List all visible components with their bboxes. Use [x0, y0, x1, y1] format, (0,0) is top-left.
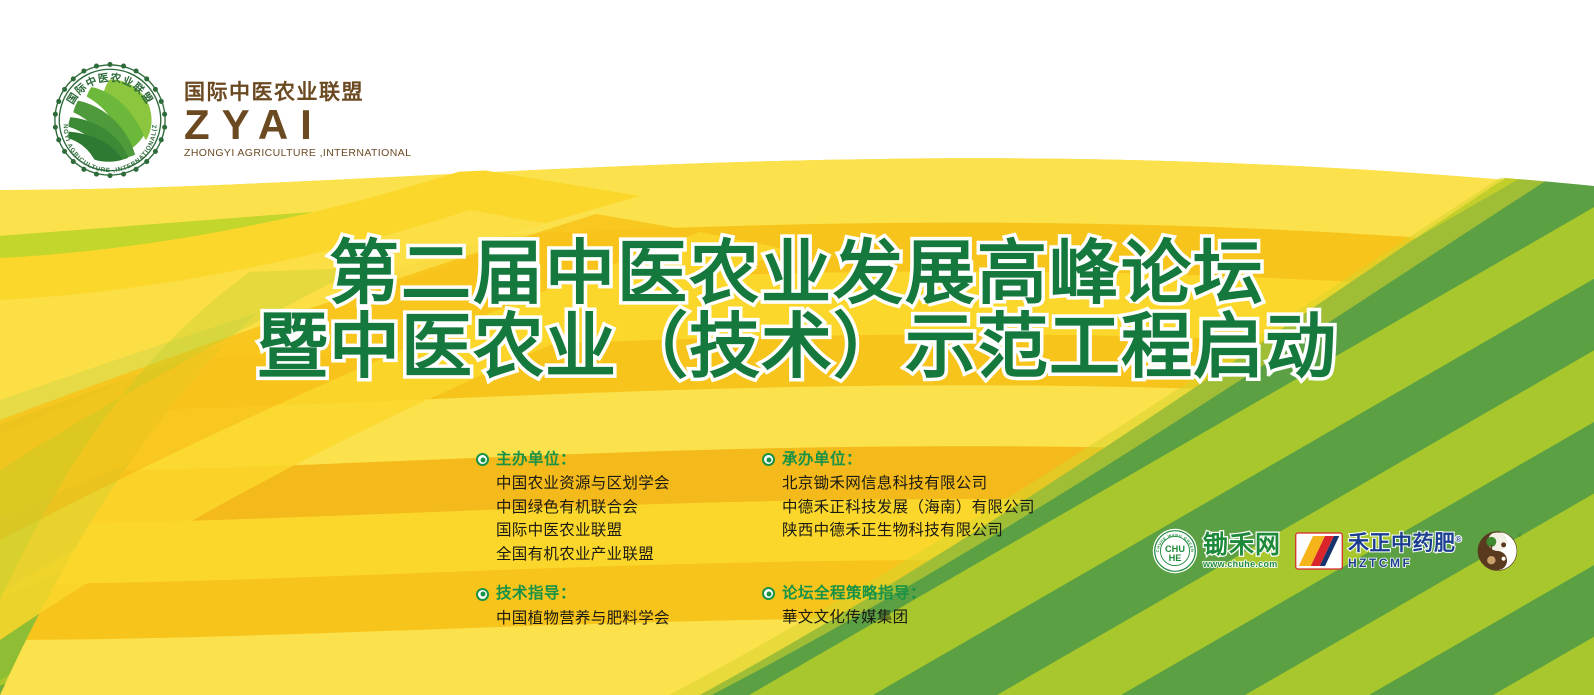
zyai-org-name-cn: 国际中医农业联盟	[184, 82, 411, 103]
organizer-item-list: 北京锄禾网信息科技有限公司 中德禾正科技发展（海南）有限公司 陕西中德禾正生物科…	[782, 472, 1062, 543]
registered-icon: ®	[1456, 535, 1462, 544]
chuhe-wordmark: 锄禾网	[1203, 533, 1281, 558]
organizer-column-left: 主办单位： 中国农业资源与区划学会 中国绿色有机联合会 国际中医农业联盟 全国有…	[476, 448, 744, 630]
list-item: 中德禾正科技发展（海南）有限公司	[782, 496, 1062, 520]
zyai-abbr: ZYAI	[184, 106, 411, 145]
organizer-group-heading: 主办单位：	[476, 448, 744, 471]
organizer-label: 论坛全程策略指导：	[782, 582, 926, 605]
organizer-column-right: 承办单位： 北京锄禾网信息科技有限公司 中德禾正科技发展（海南）有限公司 陕西中…	[762, 448, 1062, 630]
list-item: 華文文化传媒集团	[782, 606, 1062, 630]
zyai-romanization: ZHONGYI AGRICULTURE ,INTERNATIONAL	[184, 148, 411, 159]
zyai-seal-icon: 国际中医农业联盟 ZHONGYI AGRICULTURE ,INTERNATIO…	[52, 62, 168, 178]
sponsor-yinyang-tree: ®	[1476, 528, 1522, 574]
organizer-group: 论坛全程策略指导： 華文文化传媒集团	[762, 582, 1062, 630]
hztcmf-mark-icon	[1295, 532, 1343, 570]
list-item: 中国绿色有机联合会	[496, 496, 744, 520]
organizer-group: 承办单位： 北京锄禾网信息科技有限公司 中德禾正科技发展（海南）有限公司 陕西中…	[762, 448, 1062, 543]
organizer-group-heading: 承办单位：	[762, 448, 1062, 471]
zyai-logo-lockup: 国际中医农业联盟 ZHONGYI AGRICULTURE ,INTERNATIO…	[52, 62, 411, 178]
organizer-group: 主办单位： 中国农业资源与区划学会 中国绿色有机联合会 国际中医农业联盟 全国有…	[476, 448, 744, 566]
organizer-group-heading: 论坛全程策略指导：	[762, 582, 1062, 605]
list-item: 中国植物营养与肥料学会	[496, 607, 744, 631]
sponsor-chuhe-wang: CHUHE WANG GREEN CHU HE 锄禾网 www.chuhe.co…	[1152, 528, 1281, 574]
sponsor-logo-row: CHUHE WANG GREEN CHU HE 锄禾网 www.chuhe.co…	[1152, 528, 1522, 574]
bullet-icon	[476, 588, 489, 601]
organizer-group-heading: 技术指导：	[476, 582, 744, 605]
bullet-icon	[476, 453, 489, 466]
organizer-item-list: 華文文化传媒集团	[782, 606, 1062, 630]
organizer-label: 承办单位：	[782, 448, 862, 471]
yinyang-tree-seal-icon: ®	[1476, 528, 1522, 574]
organizer-item-list: 中国农业资源与区划学会 中国绿色有机联合会 国际中医农业联盟 全国有机农业产业联…	[496, 472, 744, 566]
list-item: 中国农业资源与区划学会	[496, 472, 744, 496]
svg-text:HE: HE	[1169, 553, 1182, 563]
organizer-item-list: 中国植物营养与肥料学会	[496, 607, 744, 631]
organizer-info: 主办单位： 中国农业资源与区划学会 中国绿色有机联合会 国际中医农业联盟 全国有…	[476, 448, 1062, 630]
list-item: 全国有机农业产业联盟	[496, 543, 744, 567]
hztcmf-wordmark: 禾正中药肥®	[1348, 533, 1462, 554]
organizer-group: 技术指导： 中国植物营养与肥料学会	[476, 582, 744, 630]
chuhe-seal-icon: CHUHE WANG GREEN CHU HE	[1152, 528, 1198, 574]
bullet-icon	[762, 587, 775, 600]
sponsor-hztcmf: 禾正中药肥® HZTCMF	[1295, 532, 1462, 570]
zyai-wordmark: 国际中医农业联盟 ZYAI ZHONGYI AGRICULTURE ,INTER…	[184, 82, 411, 158]
hztcmf-wordmark-text: 禾正中药肥	[1348, 532, 1456, 555]
organizer-label: 主办单位：	[496, 448, 576, 471]
chuhe-url: www.chuhe.com	[1203, 559, 1278, 569]
conference-banner: 国际中医农业联盟 ZHONGYI AGRICULTURE ,INTERNATIO…	[0, 0, 1594, 695]
bullet-icon	[762, 453, 775, 466]
list-item: 国际中医农业联盟	[496, 519, 744, 543]
organizer-label: 技术指导：	[496, 582, 576, 605]
list-item: 陕西中德禾正生物科技有限公司	[782, 519, 1062, 543]
registered-glyph: ®	[1517, 532, 1521, 539]
list-item: 北京锄禾网信息科技有限公司	[782, 472, 1062, 496]
hztcmf-abbr: HZTCMF	[1348, 556, 1412, 570]
